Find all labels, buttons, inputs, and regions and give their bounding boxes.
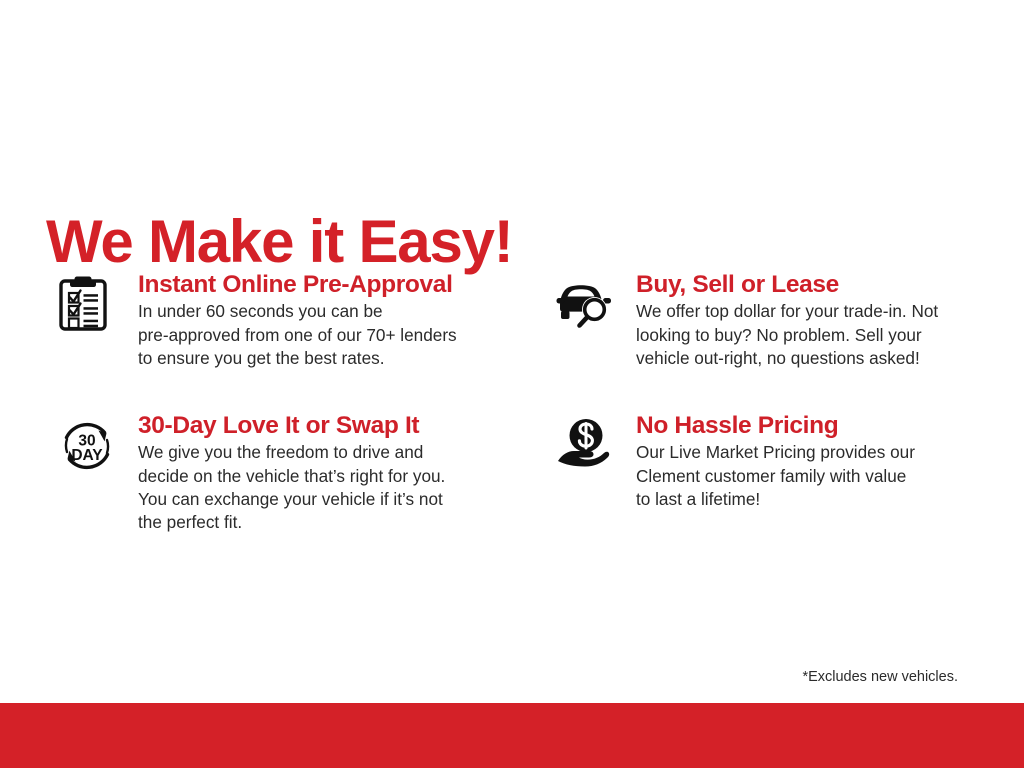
clipboard-checklist-icon xyxy=(58,272,120,330)
thirty-day-refresh-icon: 30 DAY xyxy=(58,413,120,471)
feature-description-line: the perfect fit. xyxy=(138,511,504,534)
feature-description: Our Live Market Pricing provides our Cle… xyxy=(636,441,986,510)
feature-item-no-hassle-pricing: No Hassle Pricing Our Live Market Pricin… xyxy=(556,413,986,511)
feature-description-line: In under 60 seconds you can be xyxy=(138,300,504,323)
bottom-accent-bar xyxy=(0,703,1024,768)
feature-title: 30-Day Love It or Swap It xyxy=(138,413,504,439)
feature-title: Instant Online Pre-Approval xyxy=(138,272,504,298)
feature-body: 30-Day Love It or Swap It We give you th… xyxy=(138,413,504,534)
page-title: We Make it Easy! xyxy=(46,212,513,272)
car-magnifier-icon xyxy=(556,272,618,330)
feature-description-line: to ensure you get the best rates. xyxy=(138,347,504,370)
feature-description: We offer top dollar for your trade-in. N… xyxy=(636,300,986,369)
feature-description-line: looking to buy? No problem. Sell your xyxy=(636,324,986,347)
feature-title: Buy, Sell or Lease xyxy=(636,272,986,298)
feature-title: No Hassle Pricing xyxy=(636,413,986,439)
feature-description-line: vehicle out-right, no questions asked! xyxy=(636,347,986,370)
feature-description-line: Our Live Market Pricing provides our xyxy=(636,441,986,464)
feature-description-line: to last a lifetime! xyxy=(636,488,986,511)
feature-item-buy-sell-lease: Buy, Sell or Lease We offer top dollar f… xyxy=(556,272,986,370)
thirty-day-icon-unit: DAY xyxy=(71,447,103,464)
feature-description-line: decide on the vehicle that’s right for y… xyxy=(138,465,504,488)
feature-item-30-day-swap: 30 DAY 30-Day Love It or Swap It We give… xyxy=(58,413,504,534)
feature-item-pre-approval: Instant Online Pre-Approval In under 60 … xyxy=(58,272,504,370)
feature-body: Buy, Sell or Lease We offer top dollar f… xyxy=(636,272,986,370)
feature-description: We give you the freedom to drive and dec… xyxy=(138,441,504,533)
hand-holding-dollar-icon xyxy=(556,413,618,471)
feature-body: Instant Online Pre-Approval In under 60 … xyxy=(138,272,504,370)
feature-description-line: You can exchange your vehicle if it’s no… xyxy=(138,488,504,511)
feature-body: No Hassle Pricing Our Live Market Pricin… xyxy=(636,413,986,511)
slide-canvas: We Make it Easy! xyxy=(0,0,1024,768)
feature-description: In under 60 seconds you can be pre-appro… xyxy=(138,300,504,369)
footnote-disclaimer: *Excludes new vehicles. xyxy=(802,669,958,685)
feature-description-line: We offer top dollar for your trade-in. N… xyxy=(636,300,986,323)
feature-description-line: pre-approved from one of our 70+ lenders xyxy=(138,324,504,347)
feature-description-line: Clement customer family with value xyxy=(636,465,986,488)
feature-description-line: We give you the freedom to drive and xyxy=(138,441,504,464)
